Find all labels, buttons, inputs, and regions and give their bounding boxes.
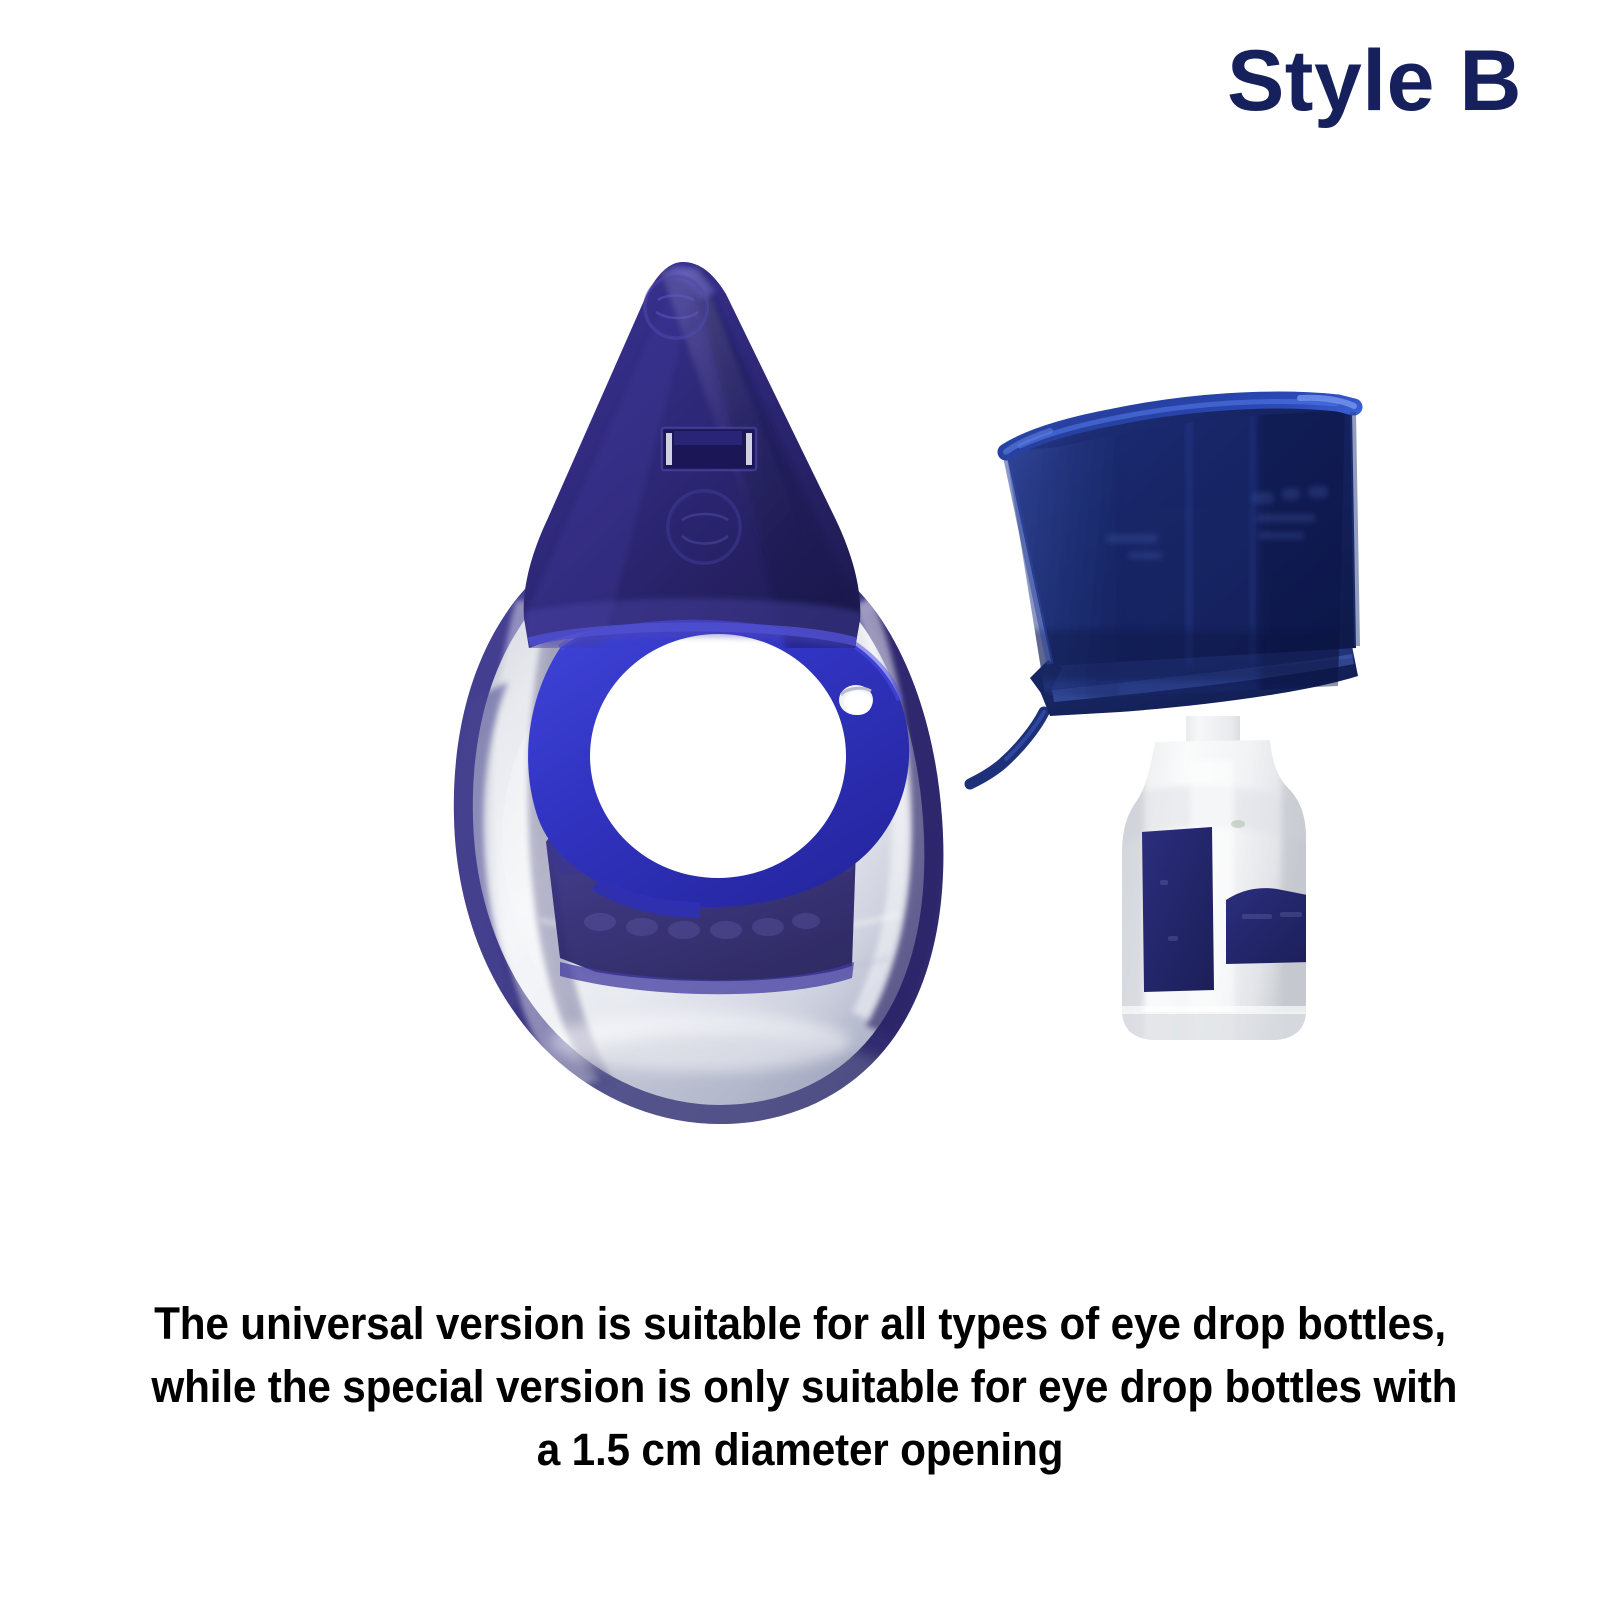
product-photo — [0, 0, 1600, 1230]
cap-emboss-upper — [645, 276, 707, 338]
product-image-canvas: Style B — [0, 0, 1600, 1600]
guide-cap — [524, 262, 862, 662]
caption-line-1: The universal version is suitable for al… — [151, 1292, 1448, 1355]
caption-line-2: while the special version is only suitab… — [151, 1355, 1448, 1418]
label-patch-short — [1226, 888, 1312, 964]
right-product-group — [970, 396, 1380, 1060]
cap-slot — [662, 428, 756, 470]
funnel-body — [1000, 396, 1380, 700]
left-product-group — [454, 262, 944, 1144]
cap-emboss-lower — [668, 491, 740, 563]
caption-line-3: a 1.5 cm diameter opening — [151, 1418, 1448, 1481]
product-caption: The universal version is suitable for al… — [110, 1292, 1490, 1481]
label-patch-tall — [1142, 827, 1214, 992]
eye-drop-bottle — [1110, 716, 1320, 1060]
product-illustration — [0, 0, 1600, 1230]
guide-vent-hole — [839, 685, 873, 715]
funnel-strap — [970, 712, 1044, 784]
